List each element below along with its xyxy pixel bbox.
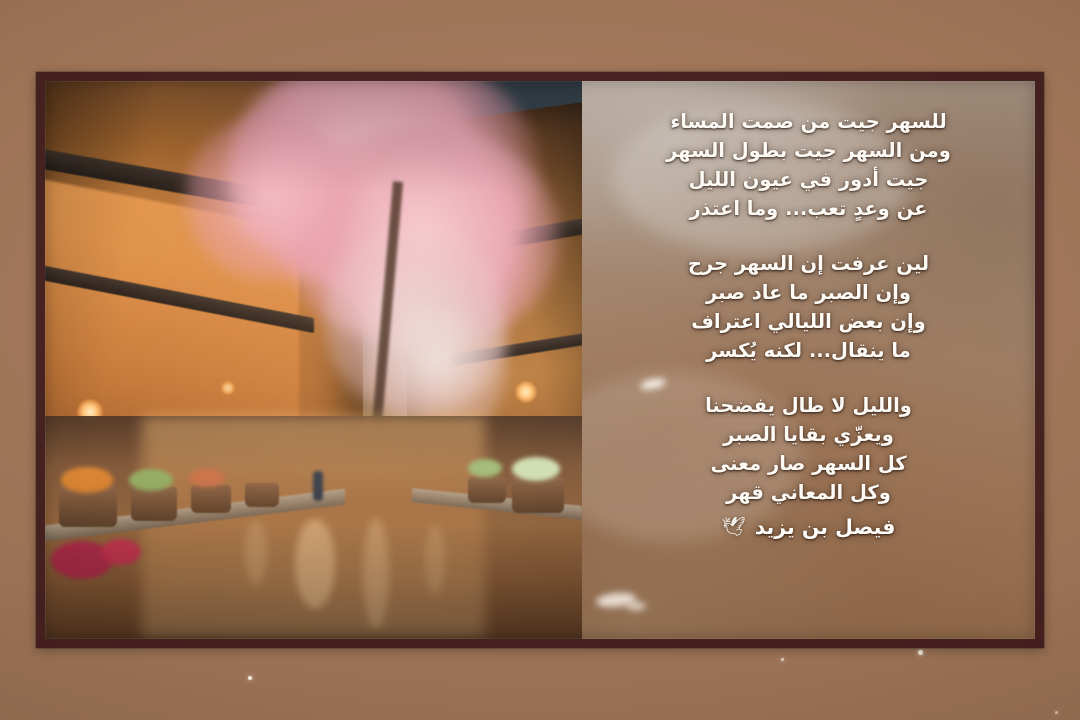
flower-cluster <box>189 469 225 487</box>
signature-row: فيصل بن يزيد 🕊 <box>610 515 1007 539</box>
sparkle-particle <box>1055 711 1058 714</box>
sparkle-particle <box>781 658 784 661</box>
street-reflection <box>295 519 335 609</box>
sparkle-particle <box>918 650 923 655</box>
framed-poem-card: للسهر جيت من صمت المساء ومن السهر جيت بط… <box>36 72 1044 648</box>
poem-line: والليل لا طال يفضحنا <box>610 391 1007 420</box>
screenshot-canvas: للسهر جيت من صمت المساء ومن السهر جيت بط… <box>0 0 1080 720</box>
poem-panel: للسهر جيت من صمت المساء ومن السهر جيت بط… <box>582 81 1035 639</box>
poem-line: وكل المعاني قهر <box>610 478 1007 507</box>
poem-line: وإن بعض الليالي اعتراف <box>610 307 1007 336</box>
poem-line: عن وعدٍ تعب... وما اعتذر <box>610 194 1007 223</box>
flower-cluster <box>61 467 113 493</box>
flower-pot <box>191 485 231 513</box>
author-signature: فيصل بن يزيد <box>755 515 896 539</box>
stanza-3: والليل لا طال يفضحنا ويعزّي بقايا الصبر … <box>610 391 1007 507</box>
poem-line: وإن الصبر ما عاد صبر <box>610 278 1007 307</box>
poem-line: ويعزّي بقايا الصبر <box>610 420 1007 449</box>
street-reflection <box>245 521 267 585</box>
pedestrian-silhouette <box>313 471 323 501</box>
poem-line: ما ينقال... لكنه يُكسر <box>610 336 1007 365</box>
poem-line: للسهر جيت من صمت المساء <box>610 107 1007 136</box>
lantern-light <box>515 381 537 403</box>
cherry-blossom-canopy <box>185 114 357 281</box>
flower-cluster <box>129 469 173 491</box>
dove-icon: 🕊 <box>722 518 746 537</box>
flower-cluster <box>512 457 560 481</box>
flower-pot <box>468 477 506 503</box>
poem-text: للسهر جيت من صمت المساء ومن السهر جيت بط… <box>582 81 1035 639</box>
flower-pot <box>245 483 279 507</box>
street-photo <box>45 81 582 639</box>
flower-pot <box>131 487 177 521</box>
poem-line: جيت أدور في عيون الليل <box>610 165 1007 194</box>
lantern-light <box>221 381 235 395</box>
flower-cluster <box>468 459 502 477</box>
stanza-2: لين عرفت إن السهر جرح وإن الصبر ما عاد ص… <box>610 249 1007 365</box>
sparkle-particle <box>248 676 252 680</box>
poem-line: كل السهر صار معنى <box>610 449 1007 478</box>
stanza-1: للسهر جيت من صمت المساء ومن السهر جيت بط… <box>610 107 1007 223</box>
street-reflection <box>425 525 445 595</box>
poem-line: ومن السهر جيت بطول السهر <box>610 136 1007 165</box>
poem-line: لين عرفت إن السهر جرح <box>610 249 1007 278</box>
street-reflection <box>363 519 389 629</box>
flower-cluster <box>101 539 141 565</box>
flower-pot <box>512 477 564 513</box>
